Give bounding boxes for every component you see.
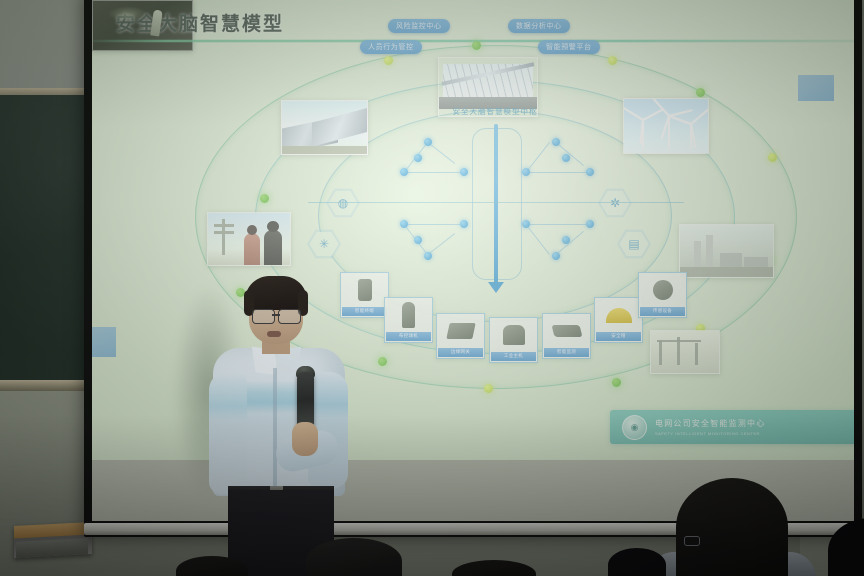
pill-label-behavior-control: 人员行为管控 <box>360 40 422 54</box>
orbit-node <box>696 88 705 97</box>
product-thumb <box>545 316 588 346</box>
decor-tile <box>92 327 116 357</box>
core-link <box>404 224 466 225</box>
worker-head <box>267 221 279 232</box>
product-thumb <box>439 316 482 346</box>
product-thumb <box>492 320 535 350</box>
hardhat-shape <box>606 308 632 323</box>
product-card[interactable]: 安全帽 <box>594 297 643 343</box>
core-link <box>556 142 584 166</box>
core-link <box>556 231 584 255</box>
eyeglasses-icon <box>278 309 301 324</box>
orbit-node <box>260 194 269 203</box>
pylon <box>695 343 698 365</box>
product-caption: 工业主机 <box>491 352 536 361</box>
core-node <box>586 168 594 176</box>
core-link <box>526 224 588 225</box>
core-node <box>400 220 408 228</box>
product-caption: 传感设备 <box>640 307 685 316</box>
core-node <box>522 168 530 176</box>
core-link <box>526 172 588 173</box>
product-caption: 边缘网关 <box>438 348 483 357</box>
core-node <box>460 220 468 228</box>
product-caption: 布控球机 <box>386 332 431 341</box>
logo-english-name: SAFETY INTELLIGENT MONITORING CENTER <box>655 431 765 436</box>
pill-label-risk-center: 风险监控中心 <box>388 19 450 33</box>
orbit-node <box>378 357 387 366</box>
solar-farm-photo <box>281 100 368 155</box>
product-thumb <box>597 300 640 330</box>
screenshot-canvas: 安全大脑智慧模型 <box>0 0 864 576</box>
core-link <box>526 142 550 173</box>
eyeglasses-icon <box>252 309 275 324</box>
presenter-left-arm <box>209 372 247 494</box>
wind-turbine-photo <box>623 98 709 154</box>
busbar <box>657 340 701 342</box>
core-node <box>424 138 432 146</box>
decor-tile <box>798 75 834 101</box>
core-node <box>552 252 560 260</box>
slide-footer-logo-bar: ◉ 电网公司安全智能监测中心 SAFETY INTELLIGENT MONITO… <box>610 410 854 444</box>
audience-eyeglasses-icon <box>684 536 700 546</box>
orbit-node <box>768 153 777 162</box>
device-shape <box>402 302 415 328</box>
logo-chinese-name: 电网公司安全智能监测中心 <box>655 418 765 429</box>
core-center-label: 安全大脑智慧模型中枢 <box>420 106 570 117</box>
presenter-shirt-placket <box>273 368 277 494</box>
core-link <box>428 142 455 164</box>
presenter <box>200 276 360 576</box>
device-shape <box>653 280 673 300</box>
core-node <box>586 220 594 228</box>
device-shape <box>503 325 525 345</box>
company-logo-icon: ◉ <box>622 415 647 440</box>
product-card[interactable]: 布控球机 <box>384 297 433 343</box>
core-diagram: 安全大脑智慧模型中枢 <box>360 110 632 315</box>
worker-body <box>244 233 260 265</box>
ground-strip <box>282 146 367 154</box>
chimney <box>694 241 701 267</box>
core-node <box>460 168 468 176</box>
pill-label-data-analysis: 数据分析中心 <box>508 19 570 33</box>
photo-glow <box>108 6 148 22</box>
orbit-node <box>608 56 617 65</box>
audience-head <box>676 478 788 576</box>
product-card[interactable]: 智能监测 <box>542 313 591 359</box>
eyeglasses-bridge <box>272 314 280 316</box>
product-card[interactable]: 工业主机 <box>489 317 538 363</box>
core-node <box>522 220 530 228</box>
core-node <box>562 236 570 244</box>
audience-head <box>306 538 402 576</box>
core-horizontal-axis <box>308 202 684 203</box>
core-arrow-icon <box>488 282 504 293</box>
core-node <box>414 236 422 244</box>
worker-head <box>247 225 257 235</box>
core-node <box>424 252 432 260</box>
worker-body <box>264 230 282 265</box>
device-shape <box>446 323 475 339</box>
ground-strip <box>680 267 773 277</box>
presenter-mouth <box>267 331 281 337</box>
product-thumb <box>387 300 430 330</box>
field-workers-photo <box>207 212 291 266</box>
core-link <box>404 172 466 173</box>
presenter-hand <box>292 422 318 456</box>
product-caption: 智能监测 <box>544 348 589 357</box>
pole-crossarm <box>214 231 234 234</box>
substation-photo <box>650 330 720 374</box>
chimney <box>706 235 713 267</box>
core-node <box>552 138 560 146</box>
core-link <box>526 224 550 255</box>
logo-text-block: 电网公司安全智能监测中心 SAFETY INTELLIGENT MONITORI… <box>655 418 765 436</box>
pole-crossarm <box>214 224 234 227</box>
product-thumb <box>641 275 684 305</box>
orbit-node <box>612 378 621 387</box>
pill-label-early-warning: 智能预警平台 <box>538 40 600 54</box>
core-node <box>414 154 422 162</box>
product-card[interactable]: 传感设备 <box>638 272 687 318</box>
orbit-node <box>472 41 481 50</box>
orbit-node <box>484 384 493 393</box>
power-plant-photo <box>679 224 774 278</box>
core-link <box>428 233 455 255</box>
pylon <box>659 341 662 365</box>
product-card[interactable]: 边缘网关 <box>436 313 485 359</box>
device-shape <box>551 325 582 337</box>
audience-head <box>608 548 666 576</box>
core-node <box>400 168 408 176</box>
orbit-node <box>384 56 393 65</box>
product-caption: 安全帽 <box>596 332 641 341</box>
core-spine <box>494 124 498 284</box>
core-node <box>562 154 570 162</box>
